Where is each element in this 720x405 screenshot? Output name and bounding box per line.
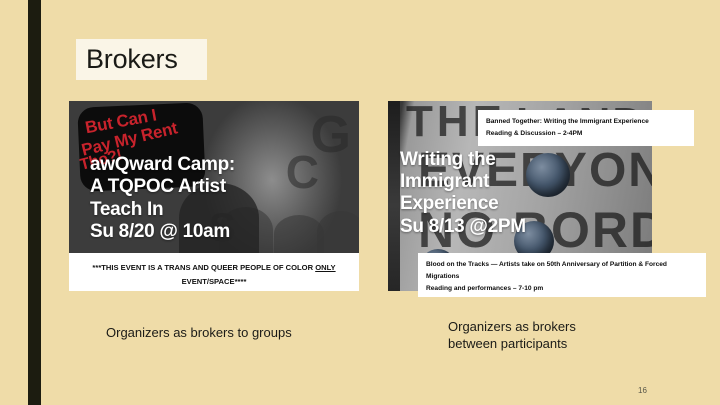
- caption-text-part-2: EVENT/SPACE****: [182, 277, 247, 286]
- right-event-overlay-text: Writing the Immigrant Experience Su 8/13…: [400, 149, 526, 238]
- page-title: Brokers: [86, 46, 178, 73]
- right-card-top-caption: Banned Together: Writing the Immigrant E…: [478, 110, 694, 146]
- left-event-card[interactable]: G C S But Can I Pay My Rent Tho?! awQwar…: [69, 101, 359, 291]
- left-event-caption: ***THIS EVENT IS A TRANS AND QUEER PEOPL…: [69, 253, 359, 291]
- poster-letter-c: C: [286, 145, 319, 199]
- bottom-caption-line-1: Blood on the Tracks — Artists take on 50…: [426, 259, 698, 271]
- sign-post: [388, 101, 400, 291]
- globe-graphic-1: [526, 153, 570, 197]
- caption-text-part-1: ***THIS EVENT IS A TRANS AND QUEER PEOPL…: [92, 263, 315, 272]
- slide-canvas: Brokers G C S But Can I Pay My Rent Tho?…: [0, 0, 720, 405]
- decorative-accent-bar: [28, 0, 41, 405]
- right-card-label: Organizers as brokers between participan…: [448, 319, 576, 353]
- top-caption-line-1: Banned Together: Writing the Immigrant E…: [486, 116, 686, 128]
- left-event-photo: G C S But Can I Pay My Rent Tho?! awQwar…: [69, 101, 359, 253]
- page-number: 16: [638, 386, 647, 395]
- bottom-caption-line-3: Reading and performances – 7-10 pm: [426, 283, 698, 295]
- left-event-overlay-text: awQward Camp: A TQPOC Artist Teach In Su…: [90, 154, 235, 243]
- caption-text-only: ONLY: [315, 263, 335, 272]
- left-card-label: Organizers as brokers to groups: [106, 325, 292, 342]
- top-caption-line-2: Reading & Discussion – 2-4PM: [486, 128, 686, 140]
- bottom-caption-line-2: Migrations: [426, 271, 698, 283]
- crowd-silhouette-3: [317, 211, 359, 253]
- right-card-bottom-caption: Blood on the Tracks — Artists take on 50…: [418, 253, 706, 297]
- title-box: Brokers: [76, 39, 207, 80]
